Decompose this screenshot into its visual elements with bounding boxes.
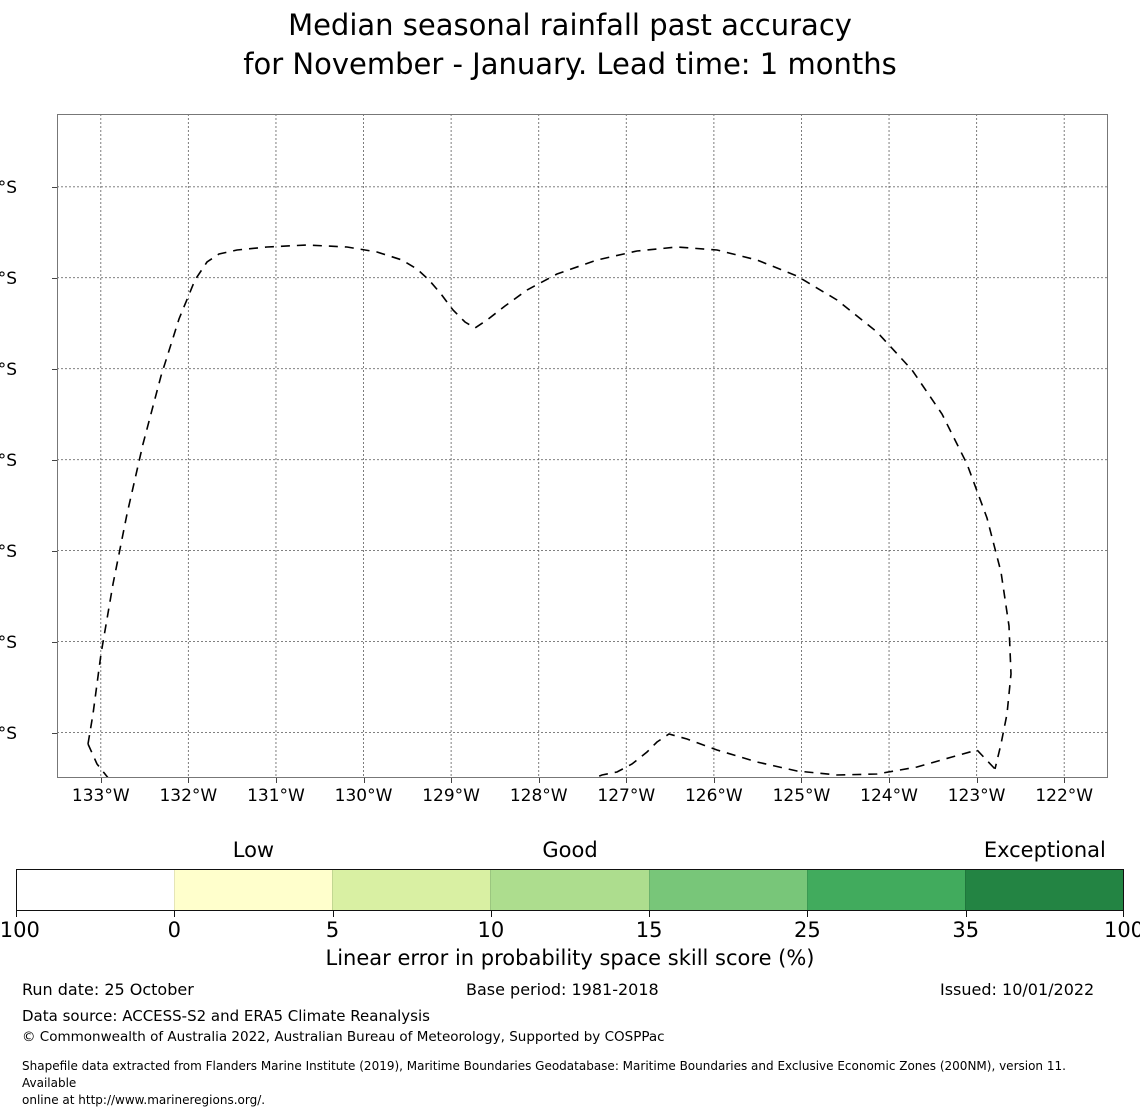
y-axis-tick-label: 25°S — [0, 360, 17, 380]
run-date: Run date: 25 October — [22, 980, 194, 999]
colorbar-segment — [17, 870, 174, 910]
colorbar-segment — [332, 870, 490, 910]
colorbar-tick-mark — [16, 911, 17, 917]
copyright-notice: © Commonwealth of Australia 2022, Austra… — [22, 1029, 665, 1045]
colorbar-tick-label: 10 — [411, 918, 571, 942]
colorbar-tick-label: 5 — [253, 918, 413, 942]
colorbar-segment — [965, 870, 1123, 910]
y-axis-tick-label: 27°S — [0, 178, 17, 198]
colorbar-category-label: Low — [123, 838, 383, 862]
x-axis-tick-mark — [276, 778, 277, 783]
colorbar-segment — [649, 870, 807, 910]
y-axis-tick-mark — [52, 551, 57, 552]
colorbar-tick-mark — [333, 911, 334, 917]
y-axis-tick-mark — [52, 278, 57, 279]
colorbar-tick-mark — [807, 911, 808, 917]
x-axis-tick-mark — [626, 778, 627, 783]
heatmap-plot: 21°S22°S23°S24°S25°S26°S27°S133°W132°W13… — [57, 114, 1108, 778]
colorbar-tick-label: 100 — [1044, 918, 1140, 942]
y-axis-tick-label: 26°S — [0, 269, 17, 289]
page-title: Median seasonal rainfall past accuracy f… — [0, 6, 1140, 84]
x-axis-tick-mark — [1064, 778, 1065, 783]
y-axis-tick-mark — [52, 187, 57, 188]
y-axis-tick-label: 23°S — [0, 542, 17, 562]
colorbar-category-label: Good — [440, 838, 700, 862]
colorbar-tick-label: 25 — [727, 918, 887, 942]
colorbar-tick-mark — [491, 911, 492, 917]
x-axis-tick-mark — [801, 778, 802, 783]
colorbar-segment — [807, 870, 965, 910]
colorbar-segment — [490, 870, 648, 910]
y-axis-tick-mark — [52, 642, 57, 643]
colorbar-tick-mark — [174, 911, 175, 917]
colorbar-gradient[interactable] — [16, 869, 1124, 911]
data-source: Data source: ACCESS-S2 and ERA5 Climate … — [22, 1007, 430, 1025]
colorbar-tick-label: 0 — [94, 918, 254, 942]
colorbar-tick-label: 35 — [886, 918, 1046, 942]
x-axis-tick-mark — [539, 778, 540, 783]
colorbar-tick-mark — [649, 911, 650, 917]
x-axis-tick-mark — [188, 778, 189, 783]
colorbar-tick-label: -100 — [0, 918, 96, 942]
y-axis-tick-label: 21°S — [0, 724, 17, 744]
base-period: Base period: 1981-2018 — [466, 980, 659, 999]
x-axis-tick-mark — [714, 778, 715, 783]
y-axis-tick-label: 22°S — [0, 633, 17, 653]
issued-date: Issued: 10/01/2022 — [940, 980, 1094, 999]
colorbar-segment — [174, 870, 332, 910]
colorbar-tick-mark — [966, 911, 967, 917]
colorbar-tick-mark — [1123, 911, 1124, 917]
x-axis-tick-label: 122°W — [1004, 786, 1124, 806]
x-axis-tick-mark — [977, 778, 978, 783]
y-axis-tick-mark — [52, 733, 57, 734]
y-axis-tick-mark — [52, 460, 57, 461]
colorbar-category-label: Exceptional — [915, 838, 1140, 862]
y-axis-tick-label: 24°S — [0, 451, 17, 471]
x-axis-tick-mark — [364, 778, 365, 783]
colorbar-tick-label: 15 — [569, 918, 729, 942]
x-axis-tick-mark — [889, 778, 890, 783]
heatmap-cells — [57, 114, 1108, 778]
x-axis-tick-mark — [101, 778, 102, 783]
shapefile-attribution: Shapefile data extracted from Flanders M… — [22, 1058, 1122, 1109]
x-axis-tick-mark — [451, 778, 452, 783]
colorbar-axis-label: Linear error in probability space skill … — [16, 946, 1124, 970]
y-axis-tick-mark — [52, 369, 57, 370]
